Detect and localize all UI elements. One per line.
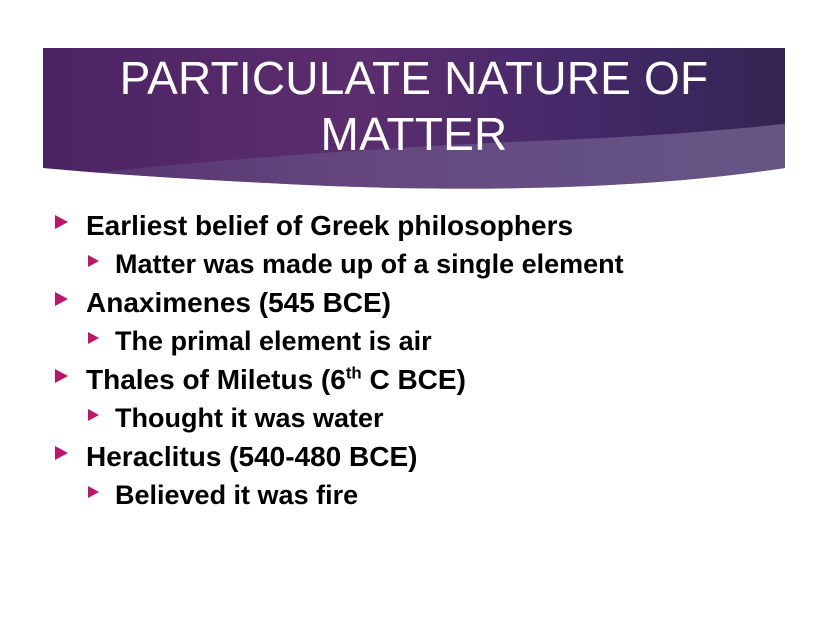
bullet-item-l2: The primal element is air [0, 322, 828, 360]
bullet-item-l1: Earliest belief of Greek philosophers [0, 206, 828, 245]
bullet-text: Believed it was fire [115, 476, 358, 514]
bullet-text: Anaximenes (545 BCE) [86, 283, 391, 322]
bullet-text: Thought it was water [115, 399, 384, 437]
bullet-list: Earliest belief of Greek philosophersMat… [0, 206, 828, 514]
triangle-bullet-icon [55, 446, 68, 460]
bullet-text: The primal element is air [115, 322, 432, 360]
triangle-bullet-icon [55, 215, 68, 229]
page-title: PARTICULATE NATURE OF MATTER [43, 50, 785, 162]
triangle-bullet-icon [88, 409, 99, 421]
triangle-bullet-icon [88, 255, 99, 267]
triangle-bullet-icon [55, 369, 68, 383]
ordinal-superscript: th [346, 364, 362, 383]
bullet-item-l2: Thought it was water [0, 399, 828, 437]
bullet-item-l1: Anaximenes (545 BCE) [0, 283, 828, 322]
slide-canvas: PARTICULATE NATURE OF MATTER Earliest be… [0, 0, 828, 621]
bullet-text: Thales of Miletus (6th C BCE) [86, 360, 466, 399]
slide-title-container: PARTICULATE NATURE OF MATTER [43, 50, 785, 170]
bullet-item-l1: Thales of Miletus (6th C BCE) [0, 360, 828, 399]
triangle-bullet-icon [55, 292, 68, 306]
bullet-item-l2: Matter was made up of a single element [0, 245, 828, 283]
triangle-bullet-icon [88, 332, 99, 344]
bullet-text: Heraclitus (540-480 BCE) [86, 437, 417, 476]
bullet-item-l1: Heraclitus (540-480 BCE) [0, 437, 828, 476]
bullet-text: Earliest belief of Greek philosophers [86, 206, 573, 245]
bullet-item-l2: Believed it was fire [0, 476, 828, 514]
triangle-bullet-icon [88, 486, 99, 498]
bullet-text: Matter was made up of a single element [115, 245, 624, 283]
